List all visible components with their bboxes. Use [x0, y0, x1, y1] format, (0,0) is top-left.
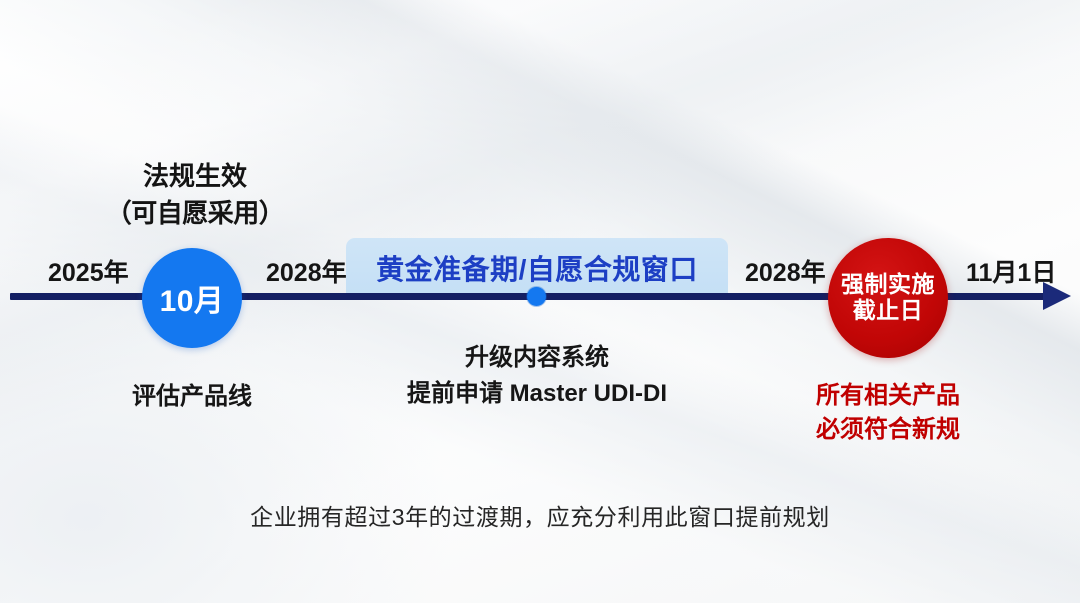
callout-regulation-effective-title: 法规生效 （可自愿采用） [60, 158, 330, 232]
note-compliance-line1: 所有相关产品 [768, 379, 1008, 413]
callout-title-line2: （可自愿采用） [60, 195, 330, 232]
marker-preparation-midpoint[interactable] [527, 287, 546, 306]
note-compliance-requirement: 所有相关产品 必须符合新规 [768, 379, 1008, 447]
marker-mandatory-deadline[interactable]: 强制实施 截止日 [828, 238, 948, 358]
date-label-mid-right: 2028年 [745, 253, 826, 289]
note-compliance-line2: 必须符合新规 [768, 413, 1008, 447]
footer-caption: 企业拥有超过3年的过渡期，应充分利用此窗口提前规划 [0, 498, 1080, 532]
timeline-infographic: 法规生效 （可自愿采用） 黄金准备期/自愿合规窗口 2025年 2028年 20… [0, 0, 1080, 603]
note-preparation-line2: 提前申请 Master UDI-DI [347, 376, 727, 412]
date-label-end: 11月1日 [966, 253, 1056, 289]
date-label-mid-left: 2028年 [266, 253, 347, 289]
golden-window-label: 黄金准备期/自愿合规窗口 [376, 248, 698, 288]
marker-mandatory-deadline-line1: 强制实施 [841, 272, 935, 298]
marker-mandatory-deadline-line2: 截止日 [853, 298, 924, 324]
marker-regulation-effective-label: 10月 [160, 276, 225, 320]
marker-regulation-effective[interactable]: 10月 [142, 248, 242, 348]
date-label-start: 2025年 [48, 253, 129, 289]
note-assess-product-line: 评估产品线 [57, 376, 327, 411]
callout-title-line1: 法规生效 [60, 158, 330, 195]
note-preparation-actions: 升级内容系统 提前申请 Master UDI-DI [347, 340, 727, 411]
note-preparation-line1: 升级内容系统 [347, 340, 727, 376]
